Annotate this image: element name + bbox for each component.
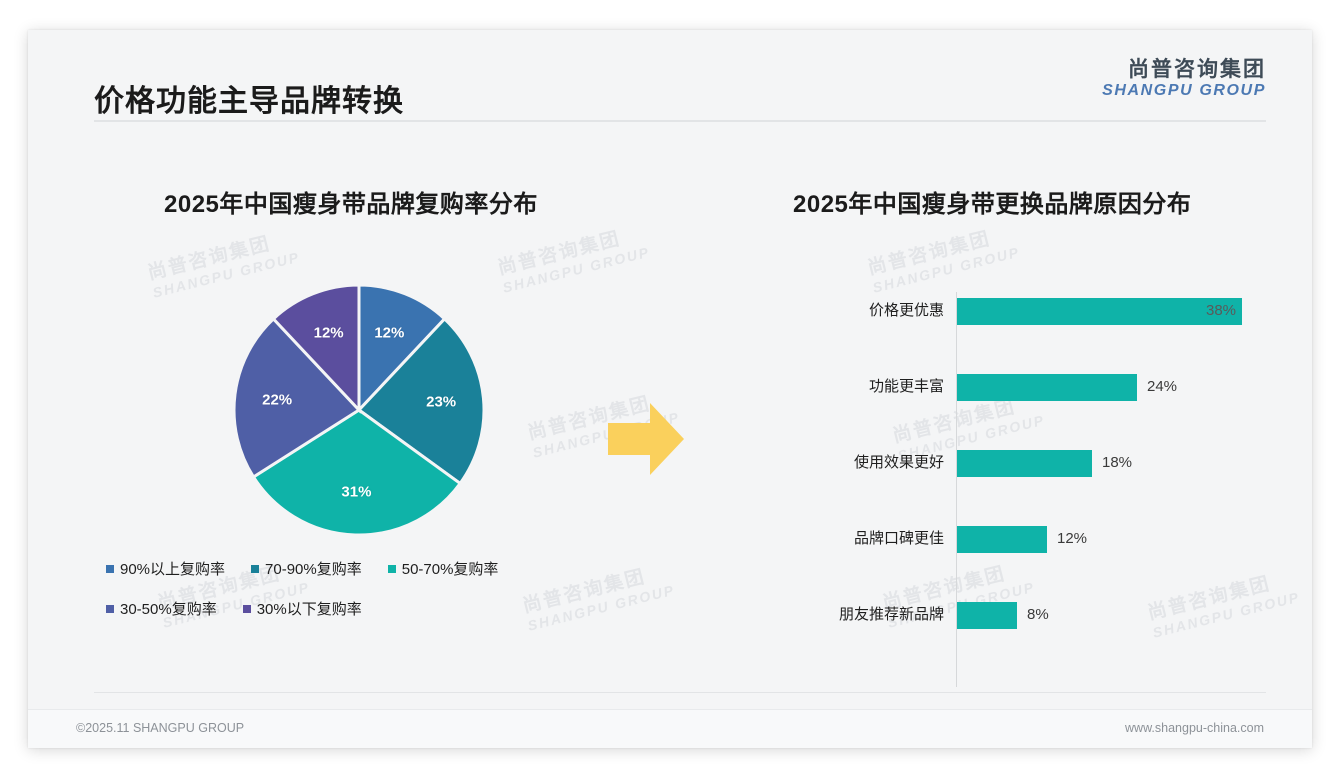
bar-row: 功能更丰富24% <box>718 368 1278 406</box>
bar-fill[interactable] <box>957 298 1242 325</box>
slide-footer: ©2025.11 SHANGPU GROUP www.shangpu-china… <box>28 709 1312 748</box>
bar-row: 使用效果更好18% <box>718 444 1278 482</box>
legend-swatch-icon <box>243 605 251 613</box>
legend-item[interactable]: 30%以下复购率 <box>243 598 362 619</box>
footnote-divider <box>94 692 1266 693</box>
bar-chart-panel: 2025年中国瘦身带更换品牌原因分布 价格更优惠38%功能更丰富24%使用效果更… <box>718 152 1278 672</box>
legend-row: 30-50%复购率 30%以下复购率 <box>100 598 680 619</box>
pie-slice-label: 12% <box>374 325 404 342</box>
legend-label: 30%以下复购率 <box>257 598 362 619</box>
page-title: 价格功能主导品牌转换 <box>94 76 404 120</box>
header-divider <box>94 120 1266 122</box>
pie-chart: 12%23%31%22%12% <box>233 284 485 536</box>
bar-fill[interactable] <box>957 450 1092 477</box>
legend-item[interactable]: 70-90%复购率 <box>251 558 362 579</box>
bar-value-label: 12% <box>1057 520 1087 558</box>
pie-chart-title: 2025年中国瘦身带品牌复购率分布 <box>164 184 538 219</box>
legend-item[interactable]: 30-50%复购率 <box>106 598 217 619</box>
bar-fill[interactable] <box>957 374 1137 401</box>
website-link[interactable]: www.shangpu-china.com <box>1125 721 1264 735</box>
legend-row: 90%以上复购率 70-90%复购率 50-70%复购率 <box>100 558 680 579</box>
pie-slice-label: 23% <box>426 394 456 411</box>
pie-slice-label: 22% <box>262 391 292 408</box>
slide-header: 价格功能主导品牌转换 尚普咨询集团 SHANGPU GROUP <box>28 30 1312 122</box>
right-arrow-icon <box>606 401 686 477</box>
legend-label: 30-50%复购率 <box>120 598 217 619</box>
pie-legend: 90%以上复购率 70-90%复购率 50-70%复购率 30-50%复购率 <box>100 558 680 638</box>
legend-label: 50-70%复购率 <box>402 558 499 579</box>
bar-category-label: 朋友推荐新品牌 <box>718 596 944 634</box>
logo-chinese-text: 尚普咨询集团 <box>1102 59 1266 81</box>
bar-category-label: 使用效果更好 <box>718 444 944 482</box>
bar-value-label: 18% <box>1102 444 1132 482</box>
legend-swatch-icon <box>106 565 114 573</box>
bar-category-label: 功能更丰富 <box>718 368 944 406</box>
brand-logo: 尚普咨询集团 SHANGPU GROUP <box>1102 59 1266 100</box>
legend-swatch-icon <box>251 565 259 573</box>
bar-row: 价格更优惠38% <box>718 292 1278 330</box>
bar-category-label: 价格更优惠 <box>718 292 944 330</box>
bar-value-label: 38% <box>1206 292 1236 330</box>
legend-swatch-icon <box>388 565 396 573</box>
legend-swatch-icon <box>106 605 114 613</box>
bar-chart: 价格更优惠38%功能更丰富24%使用效果更好18%品牌口碑更佳12%朋友推荐新品… <box>718 292 1278 692</box>
copyright-text: ©2025.11 SHANGPU GROUP <box>76 721 244 735</box>
bar-row: 朋友推荐新品牌8% <box>718 596 1278 634</box>
bar-value-label: 8% <box>1027 596 1049 634</box>
bar-category-label: 品牌口碑更佳 <box>718 520 944 558</box>
legend-item[interactable]: 50-70%复购率 <box>388 558 499 579</box>
logo-english-text: SHANGPU GROUP <box>1102 83 1266 100</box>
bar-chart-title: 2025年中国瘦身带更换品牌原因分布 <box>793 184 1191 219</box>
bar-fill[interactable] <box>957 602 1017 629</box>
bar-fill[interactable] <box>957 526 1047 553</box>
legend-item[interactable]: 90%以上复购率 <box>106 558 225 579</box>
bar-row: 品牌口碑更佳12% <box>718 520 1278 558</box>
pie-slice-label: 31% <box>341 484 371 501</box>
bar-value-label: 24% <box>1147 368 1177 406</box>
slide-canvas: 尚普咨询集团 SHANGPU GROUP 尚普咨询集团 SHANGPU GROU… <box>28 30 1312 748</box>
pie-chart-panel: 2025年中国瘦身带品牌复购率分布 12%23%31%22%12% 90%以上复… <box>94 152 684 672</box>
pie-slice-label: 12% <box>314 325 344 342</box>
legend-label: 70-90%复购率 <box>265 558 362 579</box>
legend-label: 90%以上复购率 <box>120 558 225 579</box>
